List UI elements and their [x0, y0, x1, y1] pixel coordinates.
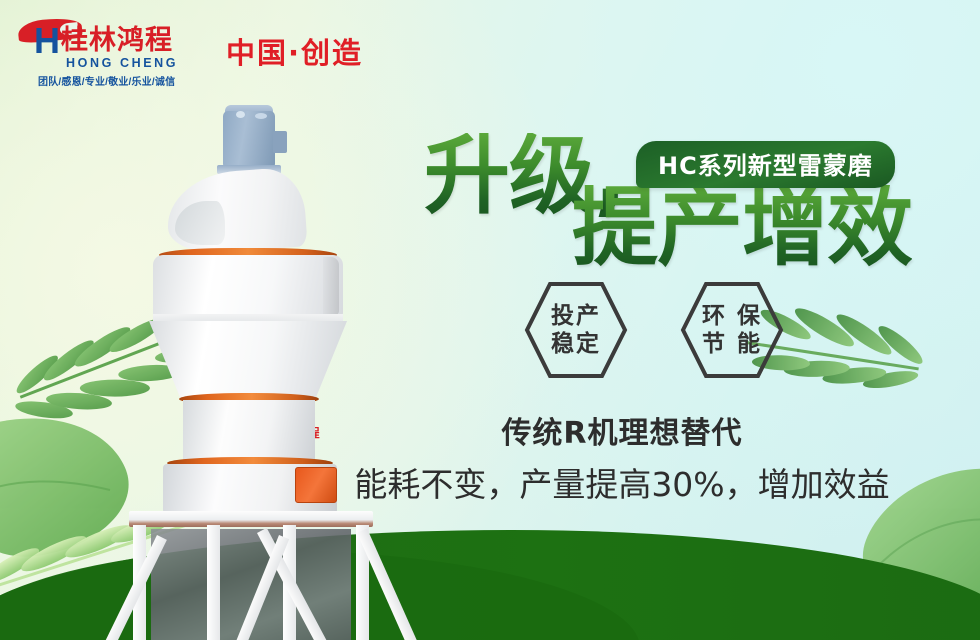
product-image-raymond-mill: H 桂林鸿程 HONG CHENG	[105, 105, 405, 625]
logo-letter-h: H	[34, 24, 58, 58]
subtext-line-2: 能耗不变，产量提高30%，增加效益	[0, 458, 980, 506]
headline-line-2: 提产增效	[572, 185, 912, 271]
feature-badge-2: 环 保 节 能	[680, 281, 784, 379]
motor-cap-detail-2	[255, 113, 267, 119]
upper-shell: H 桂林鸿程 HONG CHENG	[153, 255, 343, 317]
feature-1-line-2: 稳定	[551, 330, 601, 358]
feature-2-line-2: 节 能	[702, 330, 762, 358]
promo-banner: H 桂林鸿程 HONG CHENG 团队/感恩/专业/敬业/乐业/诚信 中国·创…	[0, 0, 980, 640]
feature-badge-2-text: 环 保 节 能	[702, 302, 762, 358]
frame-leg-mid-left	[207, 525, 220, 640]
feature-badge-1-text: 投产 稳定	[551, 302, 601, 358]
feature-2-line-1: 环 保	[702, 302, 762, 330]
motor-body	[223, 111, 275, 167]
feature-badges: 投产 稳定 环 保 节 能	[524, 281, 784, 379]
brand-logo: H 桂林鸿程 HONG CHENG 团队/感恩/专业/敬业/乐业/诚信 中国·创…	[24, 24, 363, 88]
subtext-line-1: 传统R机理想替代	[0, 408, 980, 452]
made-in-china-text: 中国·创造	[226, 30, 363, 72]
feature-1-line-1: 投产	[551, 302, 601, 330]
logo-slogan: 团队/感恩/专业/敬业/乐业/诚信	[38, 73, 200, 88]
logo-company-en: HONG CHENG	[66, 56, 200, 70]
logo-block: H 桂林鸿程 HONG CHENG 团队/感恩/专业/敬业/乐业/诚信	[24, 24, 200, 88]
motor-cap-detail	[236, 111, 245, 118]
motor-terminal-box	[273, 131, 287, 153]
cone-section	[149, 321, 347, 399]
feature-badge-1: 投产 稳定	[524, 281, 628, 379]
logo-primary-row: H 桂林鸿程	[24, 24, 200, 58]
base-frame	[133, 525, 369, 640]
logo-company-cn: 桂林鸿程	[61, 27, 173, 55]
product-series-badge: HC系列新型雷蒙磨	[636, 141, 895, 188]
